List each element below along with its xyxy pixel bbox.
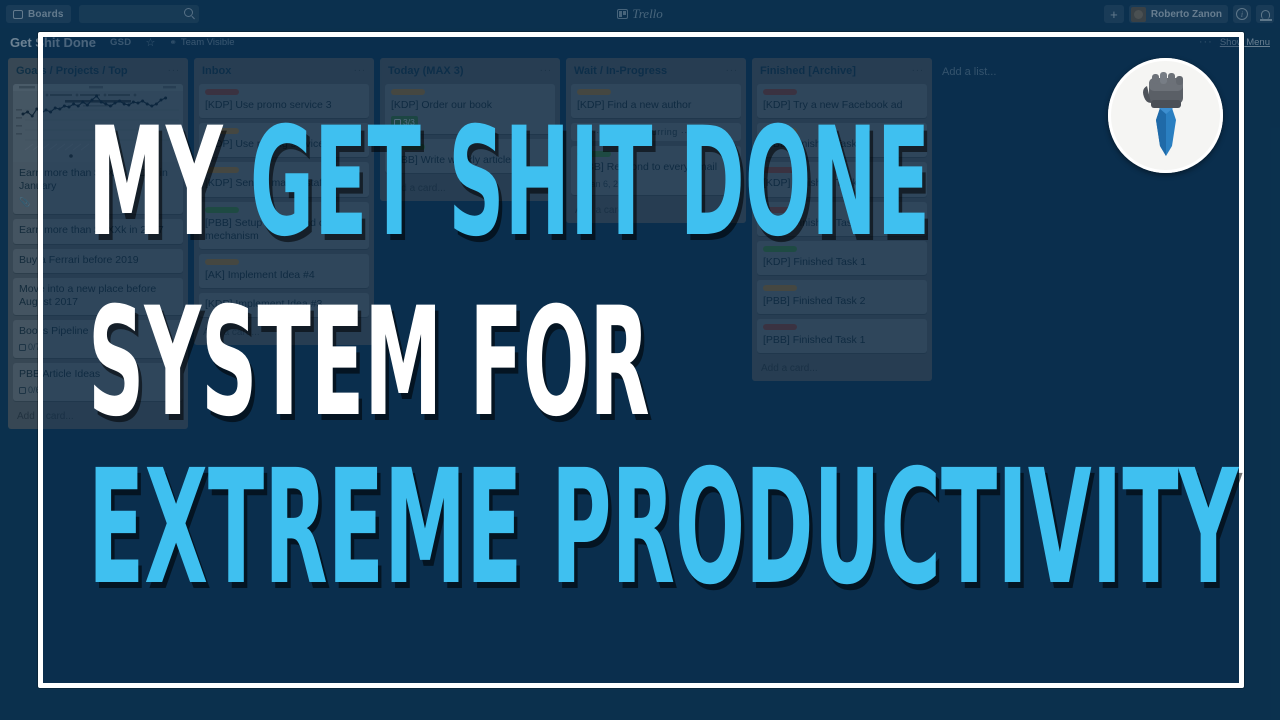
video-thumbnail: Boards Trello + Roberto Zanon i: [0, 0, 1280, 720]
frame-tint: [43, 37, 1239, 683]
raised-fist-tie-logo: [1108, 58, 1223, 173]
